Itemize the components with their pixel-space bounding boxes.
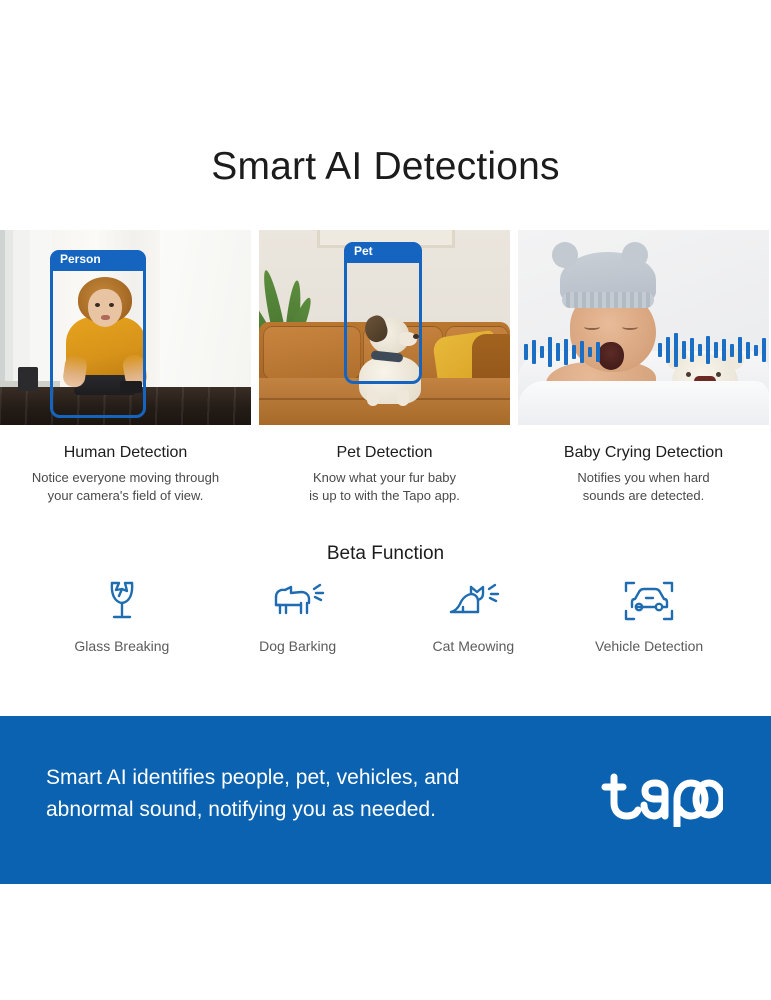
human-detection-image: Person bbox=[0, 230, 251, 425]
vehicle-detection-icon bbox=[622, 578, 676, 626]
hat-ear bbox=[552, 242, 578, 268]
broken-glass-icon bbox=[102, 578, 142, 626]
audio-waveform-left bbox=[524, 330, 600, 374]
audio-waveform-right bbox=[658, 328, 769, 372]
detection-label-person: Person bbox=[50, 250, 146, 271]
bottom-banner: Smart AI identifies people, pet, vehicle… bbox=[0, 716, 771, 884]
tapo-logo bbox=[599, 774, 723, 826]
feature-description: Know what your fur baby is up to with th… bbox=[259, 469, 510, 506]
feature-card-pet-detection[interactable]: Pet Pet Detection Know what your fur bab… bbox=[259, 230, 510, 506]
beta-item-label: Vehicle Detection bbox=[595, 638, 703, 654]
feature-description-line2: your camera's field of view. bbox=[0, 487, 251, 505]
dog-leg bbox=[397, 390, 409, 406]
teddy-eye bbox=[686, 372, 691, 377]
floor-object bbox=[18, 367, 38, 391]
detection-box-pet: Pet bbox=[344, 242, 422, 384]
nursery-scene bbox=[518, 230, 769, 425]
feature-title: Baby Crying Detection bbox=[518, 444, 769, 462]
feature-description-line2: sounds are detected. bbox=[518, 487, 769, 505]
detection-label-pet: Pet bbox=[344, 242, 422, 263]
feature-description-line1: Notice everyone moving through bbox=[0, 469, 251, 487]
feature-description: Notifies you when hard sounds are detect… bbox=[518, 469, 769, 506]
beta-item-vehicle-detection[interactable]: Vehicle Detection bbox=[561, 578, 737, 654]
dog-barking-icon bbox=[270, 578, 326, 626]
feature-cards-row: Person Human Detection Notice everyone m… bbox=[0, 230, 771, 506]
baby-open-mouth bbox=[598, 342, 624, 370]
banner-text-line1: Smart AI identifies people, pet, vehicle… bbox=[46, 762, 566, 794]
beta-item-dog-barking[interactable]: Dog Barking bbox=[210, 578, 386, 654]
feature-title: Pet Detection bbox=[259, 444, 510, 462]
page-title: Smart AI Detections bbox=[0, 144, 771, 191]
baby-eye-right bbox=[622, 324, 638, 330]
feature-description: Notice everyone moving through your came… bbox=[0, 469, 251, 506]
banner-text: Smart AI identifies people, pet, vehicle… bbox=[46, 762, 566, 826]
pet-detection-image: Pet bbox=[259, 230, 510, 425]
dog-leg bbox=[367, 390, 379, 406]
feature-card-human-detection[interactable]: Person Human Detection Notice everyone m… bbox=[0, 230, 251, 506]
teddy-eye bbox=[716, 372, 721, 377]
baby-crying-detection-image bbox=[518, 230, 769, 425]
curtain-right bbox=[160, 230, 251, 395]
feature-description-line1: Notifies you when hard bbox=[518, 469, 769, 487]
feature-description-line2: is up to with the Tapo app. bbox=[259, 487, 510, 505]
beta-item-glass-breaking[interactable]: Glass Breaking bbox=[34, 578, 210, 654]
detection-box-person: Person bbox=[50, 250, 146, 418]
beta-item-label: Cat Meowing bbox=[433, 638, 515, 654]
hat-ear bbox=[622, 242, 648, 268]
banner-text-line2: abnormal sound, notifying you as needed. bbox=[46, 794, 566, 826]
cat-meowing-icon bbox=[445, 578, 501, 626]
beta-item-label: Dog Barking bbox=[259, 638, 336, 654]
beta-item-cat-meowing[interactable]: Cat Meowing bbox=[386, 578, 562, 654]
beta-item-label: Glass Breaking bbox=[74, 638, 169, 654]
feature-card-baby-crying-detection[interactable]: Baby Crying Detection Notifies you when … bbox=[518, 230, 769, 506]
blanket bbox=[518, 381, 769, 425]
beta-function-row: Glass Breaking Dog Barking bbox=[34, 578, 737, 654]
beta-function-heading: Beta Function bbox=[0, 543, 771, 565]
feature-title: Human Detection bbox=[0, 444, 251, 462]
hat-brim bbox=[562, 292, 654, 308]
feature-description-line1: Know what your fur baby bbox=[259, 469, 510, 487]
